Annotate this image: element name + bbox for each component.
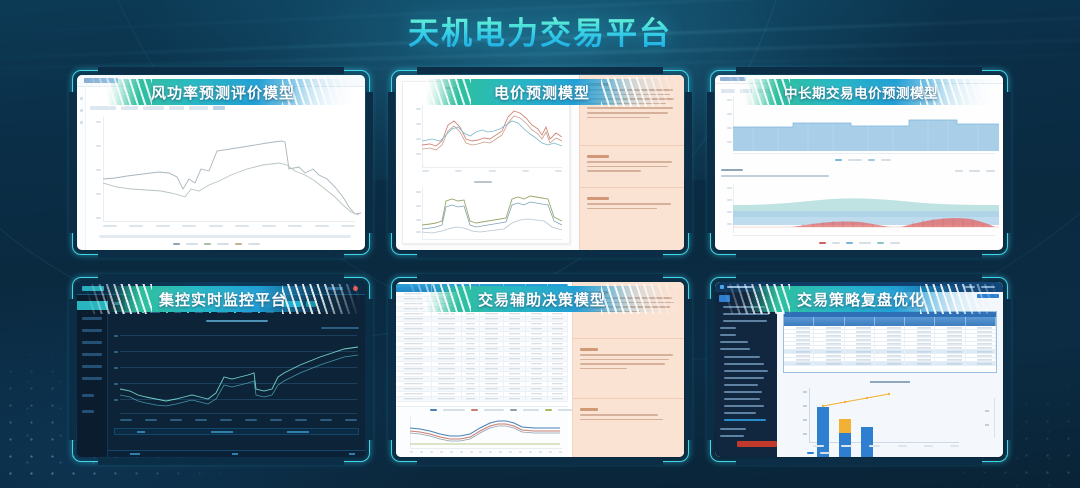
mock-dashboard-body (108, 295, 365, 457)
page-title: 天机电力交易平台 (0, 8, 1080, 53)
mock-chart-legend (173, 243, 260, 245)
line-chart-series (410, 416, 560, 448)
mock-topbar (77, 75, 365, 87)
module-card-strategy-review-optimization[interactable]: 交易策略复盘优化 (710, 277, 1008, 462)
mock-filter-row (90, 105, 359, 111)
mock-summary-bar (114, 428, 359, 435)
mock-scrollbar[interactable] (99, 235, 351, 238)
mock-rail-dot (80, 121, 83, 124)
mock-tree-sidebar (715, 292, 777, 457)
app-icon (720, 285, 724, 289)
watermark-badge (737, 441, 777, 447)
query-button[interactable] (283, 301, 301, 307)
card-screenshot (77, 75, 365, 250)
module-card-trade-decision-support[interactable]: 交易辅助决策模型 (391, 277, 689, 462)
mock-rail-dot (80, 97, 83, 100)
strategy-review-app-mock (715, 282, 1003, 457)
module-card-wind-power-forecast[interactable]: 风功率预测评价模型 (72, 70, 370, 255)
mock-app-logo (82, 286, 104, 291)
price-forecast-app-mock (396, 75, 684, 250)
mock-rail-dot (80, 109, 83, 112)
mock-chart-title (108, 319, 365, 323)
card-screenshot (715, 282, 1003, 457)
mock-x-labels (103, 225, 355, 227)
info-section-heading (580, 291, 608, 294)
trade-decision-app-mock (396, 282, 684, 457)
line-chart-series (103, 117, 361, 221)
mock-table-header (396, 284, 568, 292)
mock-info-panel (579, 75, 684, 250)
module-card-central-control-monitor[interactable]: 集控实时监控平台 (72, 277, 370, 462)
area-chart-upper (733, 97, 999, 151)
module-card-mid-long-term-price-forecast[interactable]: 中长期交易电价预测模型 (710, 70, 1008, 255)
mock-chart-legend (444, 87, 550, 89)
line-chart-series-upper (422, 105, 562, 167)
card-screenshot (396, 75, 684, 250)
mock-sidebar (77, 295, 108, 457)
mock-footer (108, 450, 365, 457)
card-screenshot (396, 282, 684, 457)
mock-x-axis (103, 221, 355, 222)
card-screenshot (77, 282, 365, 457)
mock-filter-bar (114, 300, 359, 307)
line-chart-series-lower (422, 187, 562, 239)
mock-data-table (783, 311, 997, 373)
line-overlay-series (809, 388, 959, 442)
line-chart-series (120, 333, 358, 415)
export-button[interactable] (977, 294, 999, 298)
presentation-slide: 天机电力交易平台 (0, 0, 1080, 488)
mock-main-panel (777, 292, 1003, 457)
mock-dark-topbar (77, 282, 365, 295)
table-header-row (784, 317, 996, 326)
mock-info-panel (572, 282, 684, 457)
alarm-indicator-icon (353, 286, 358, 291)
mock-toolbar (781, 301, 999, 307)
info-section-heading (587, 83, 609, 86)
central-control-dashboard-mock (77, 282, 365, 457)
mock-chart-title (777, 380, 1003, 384)
tree-toggle-button[interactable] (719, 295, 730, 302)
reset-button[interactable] (306, 301, 316, 307)
area-chart-lower (733, 185, 999, 233)
module-card-grid: 风功率预测评价模型 (72, 70, 1008, 470)
midlong-app-mock (715, 75, 1003, 250)
wind-power-app-mock (77, 75, 365, 250)
card-screenshot (715, 75, 1003, 250)
mock-chart-title (458, 99, 504, 101)
mock-chart-legend (115, 311, 274, 313)
module-card-price-forecast[interactable]: 电价预测模型 (391, 70, 689, 255)
mock-topbar (715, 282, 1003, 292)
mock-app-logo (84, 78, 118, 83)
